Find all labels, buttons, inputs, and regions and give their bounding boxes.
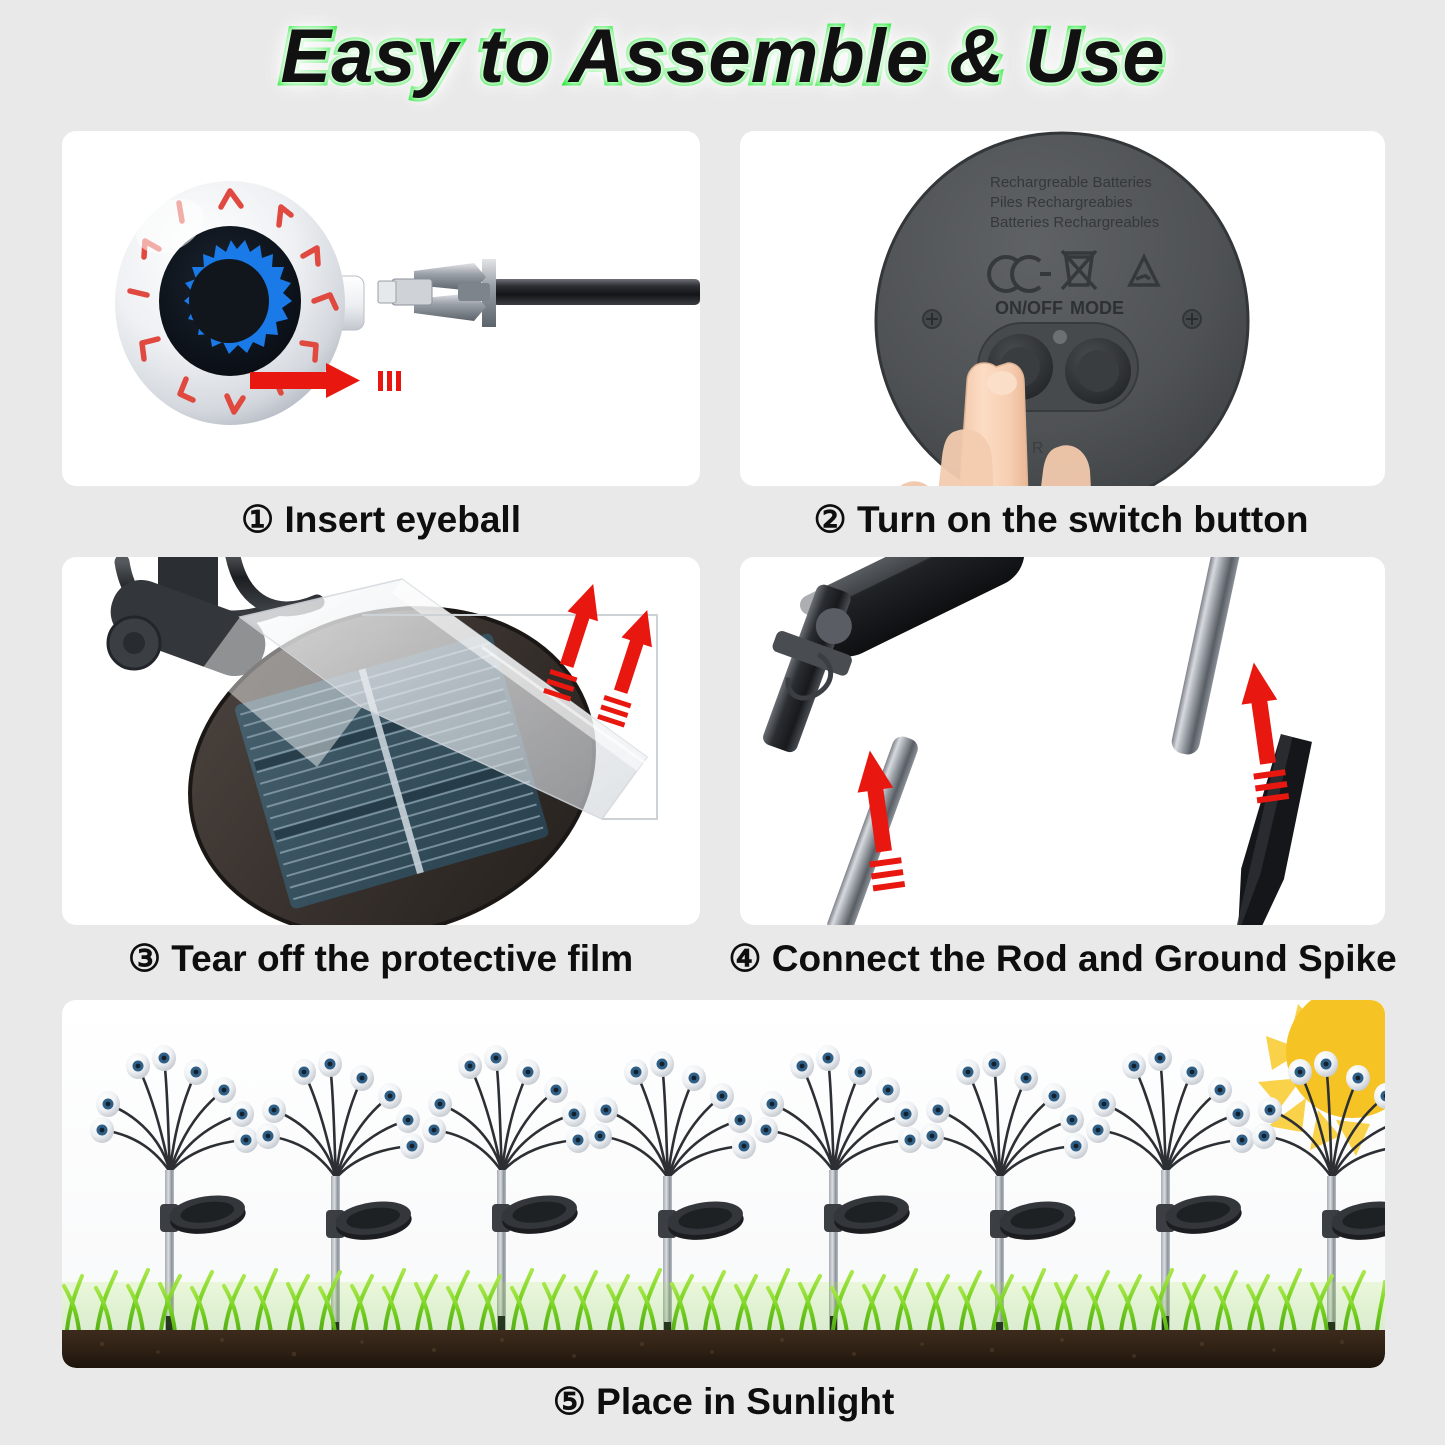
step-2-caption: ② Turn on the switch button bbox=[716, 486, 1406, 552]
insert-eyeball-illustration bbox=[62, 131, 700, 486]
place-in-sunlight-illustration bbox=[62, 1000, 1385, 1368]
page-title: Easy to Assemble & Use bbox=[280, 13, 1164, 100]
eyeball-pupil bbox=[189, 259, 269, 343]
step-5-caption: ⑤ Place in Sunlight bbox=[62, 1368, 1385, 1434]
svg-text:R: R bbox=[1032, 440, 1044, 457]
mode-label: MODE bbox=[1070, 298, 1124, 318]
clip-connector-icon bbox=[378, 259, 700, 327]
step-1-caption-text: ① Insert eyeball bbox=[241, 498, 521, 541]
battery-base-icon: Rechargreable Batteries Piles Rechargrea… bbox=[876, 133, 1248, 486]
step-3-caption: ③ Tear off the protective film bbox=[48, 925, 713, 991]
step-2-caption-text: ② Turn on the switch button bbox=[814, 498, 1309, 541]
step-4-caption-text: ④ Connect the Rod and Ground Spike bbox=[728, 937, 1396, 980]
connect-rod-illustration bbox=[740, 557, 1385, 925]
step-3-image-panel bbox=[62, 557, 700, 925]
step-2-image-panel: Rechargreable Batteries Piles Rechargrea… bbox=[740, 131, 1385, 486]
step-1-image-panel bbox=[62, 131, 700, 486]
step-3-caption-text: ③ Tear off the protective film bbox=[128, 937, 633, 980]
step-4-caption: ④ Connect the Rod and Ground Spike bbox=[730, 925, 1395, 991]
step-4-image-panel bbox=[740, 557, 1385, 925]
on-off-label: ON/OFF bbox=[995, 298, 1063, 318]
turn-on-switch-illustration: Rechargreable Batteries Piles Rechargrea… bbox=[740, 131, 1385, 486]
weee-bin-icon bbox=[1062, 251, 1096, 289]
title-bar: Easy to Assemble & Use bbox=[0, 6, 1445, 106]
step-5-image-panel bbox=[62, 1000, 1385, 1368]
soil-icon bbox=[62, 1330, 1385, 1368]
embossed-line-3: Batteries Rechargreables bbox=[990, 214, 1159, 231]
light-sensor-icon bbox=[1053, 330, 1067, 344]
step-1-caption: ① Insert eyeball bbox=[62, 486, 700, 552]
embossed-line-2: Piles Rechargreabies bbox=[990, 194, 1133, 211]
step-5-caption-text: ⑤ Place in Sunlight bbox=[553, 1380, 895, 1423]
rod-upper-right-icon bbox=[1170, 557, 1245, 757]
red-up-arrow-icon bbox=[852, 660, 1291, 892]
tear-film-illustration bbox=[62, 557, 700, 925]
embossed-line-1: Rechargreable Batteries bbox=[990, 174, 1152, 191]
